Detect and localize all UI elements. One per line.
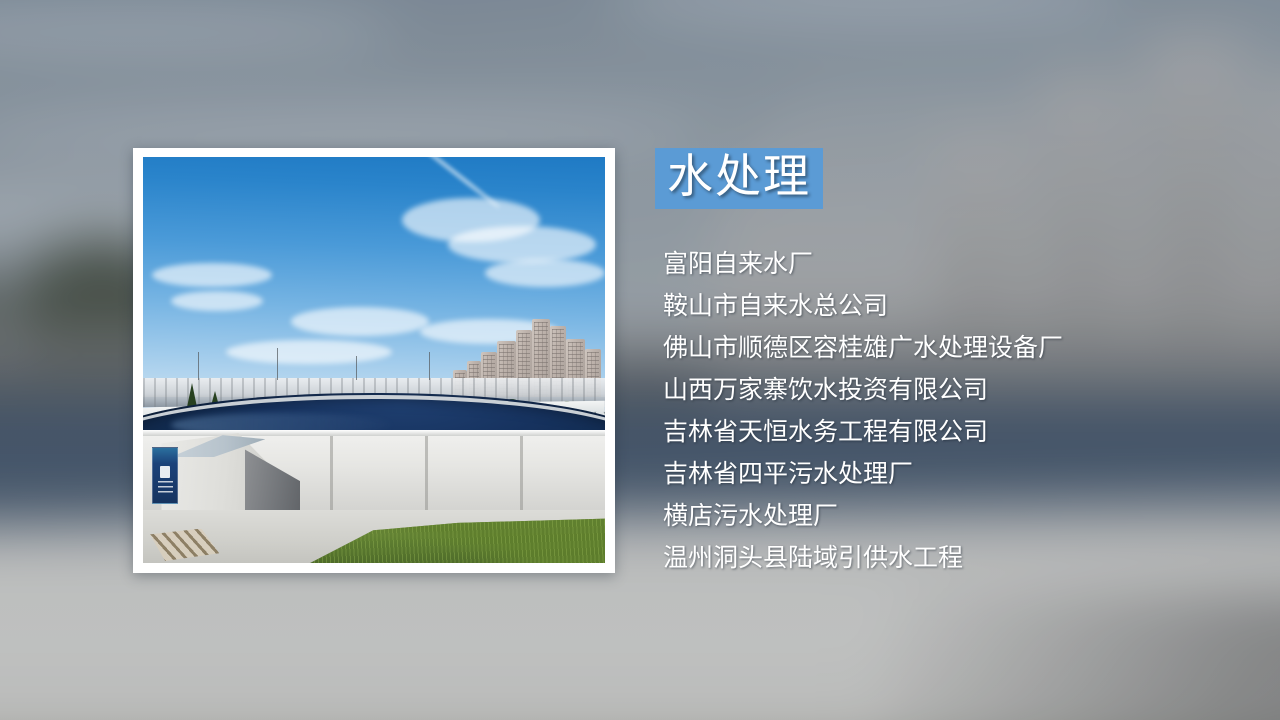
photo-pole [277,348,278,380]
list-item[interactable]: 富阳自来水厂 [655,243,1215,285]
photo-pole [429,352,430,380]
photo-wall-cap [143,430,605,436]
title-highlight-box: 水处理 [655,148,823,209]
list-item[interactable]: 山西万家寨饮水投资有限公司 [655,369,1215,411]
list-item[interactable]: 吉林省天恒水务工程有限公司 [655,411,1215,453]
photo-cloud [226,340,392,364]
list-item[interactable]: 吉林省四平污水处理厂 [655,453,1215,495]
list-item[interactable]: 鞍山市自来水总公司 [655,285,1215,327]
photo-card[interactable] [133,148,615,573]
photo-cloud [152,263,272,287]
slide-text-column: 水处理 富阳自来水厂 鞍山市自来水总公司 佛山市顺德区容桂雄广水处理设备厂 山西… [655,148,1215,579]
list-item[interactable]: 横店污水处理厂 [655,495,1215,537]
photo-cloud [448,226,596,263]
presentation-slide: 水处理 富阳自来水厂 鞍山市自来水总公司 佛山市顺德区容桂雄广水处理设备厂 山西… [0,0,1280,720]
photo-cloud [485,259,605,287]
company-list: 富阳自来水厂 鞍山市自来水总公司 佛山市顺德区容桂雄广水处理设备厂 山西万家寨饮… [655,243,1215,579]
photo-sign-number [160,466,170,478]
photo-pole [198,352,199,380]
list-item[interactable]: 佛山市顺德区容桂雄广水处理设备厂 [655,327,1215,369]
list-item[interactable]: 温州洞头县陆域引供水工程 [655,537,1215,579]
photo-image [143,157,605,563]
photo-pole [356,356,357,380]
page-title: 水处理 [667,152,811,201]
photo-sign-text-lines [158,481,173,495]
photo-blue-sign [152,447,178,504]
